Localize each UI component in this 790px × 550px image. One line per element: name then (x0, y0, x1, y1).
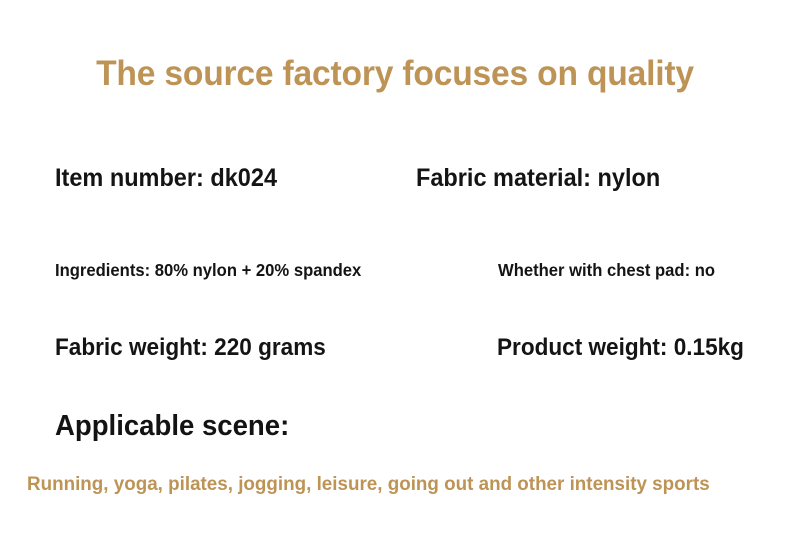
spec-ingredients: Ingredients: 80% nylon + 20% spandex (55, 250, 361, 290)
spec-item-number: Item number: dk024 (55, 158, 277, 198)
spec-row: Ingredients: 80% nylon + 20% spandex Whe… (0, 250, 790, 290)
spec-fabric-material: Fabric material: nylon (416, 158, 660, 198)
spec-chest-pad: Whether with chest pad: no (498, 250, 715, 290)
applicable-scene-list: Running, yoga, pilates, jogging, leisure… (27, 470, 710, 498)
spec-product-weight: Product weight: 0.15kg (497, 328, 744, 368)
spec-row: Fabric weight: 220 grams Product weight:… (0, 328, 790, 368)
page-title: The source factory focuses on quality (16, 52, 774, 96)
applicable-scene-heading: Applicable scene: (55, 406, 289, 446)
spec-row: Item number: dk024 Fabric material: nylo… (0, 158, 790, 198)
spec-fabric-weight: Fabric weight: 220 grams (55, 328, 326, 368)
product-spec-card: The source factory focuses on quality It… (0, 0, 790, 550)
